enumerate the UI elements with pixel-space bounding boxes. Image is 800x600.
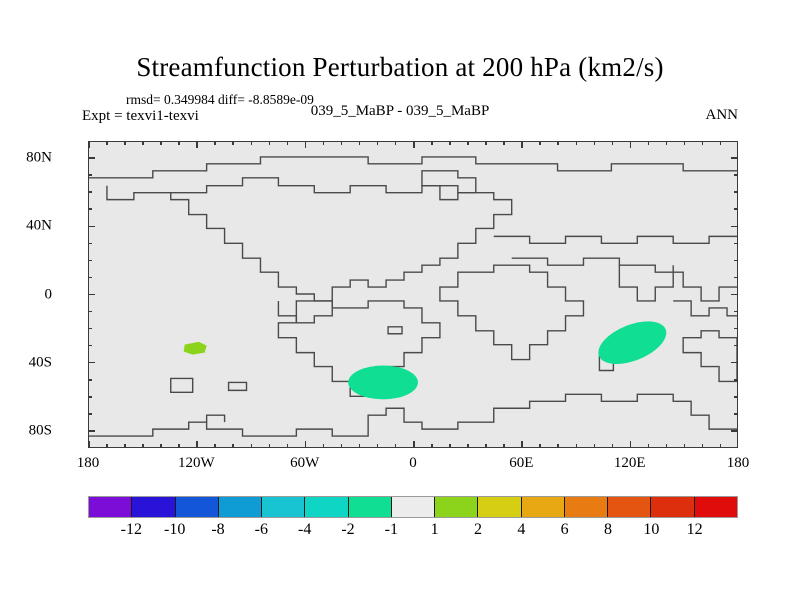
- x-tick-major: [305, 441, 307, 448]
- y-tick-major-right: [731, 226, 738, 228]
- colorbar-tick-label-11: 8: [604, 521, 612, 539]
- x-axis-label-6: 180: [727, 455, 750, 472]
- y-tick-minor: [88, 379, 92, 381]
- x-tick-minor: [431, 444, 433, 448]
- y-tick-minor: [88, 174, 92, 176]
- y-tick-major: [88, 226, 95, 228]
- colorbar[interactable]: [88, 496, 738, 518]
- x-tick-minor: [124, 444, 126, 448]
- colorbar-segment-2[interactable]: [176, 497, 219, 517]
- y-tick-minor-right: [734, 413, 738, 415]
- x-tick-minor: [323, 444, 325, 448]
- y-axis-label-1: 40N: [26, 218, 52, 235]
- y-tick-minor-right: [734, 311, 738, 313]
- x-tick-minor: [251, 444, 253, 448]
- colorbar-segment-1[interactable]: [132, 497, 175, 517]
- x-tick-minor-top: [720, 141, 722, 145]
- x-tick-minor-top: [359, 141, 361, 145]
- x-tick-minor-top: [666, 141, 668, 145]
- x-tick-minor-top: [251, 141, 253, 145]
- x-tick-minor-top: [485, 141, 487, 145]
- x-tick-minor-top: [160, 141, 162, 145]
- x-axis-label-0: 180: [77, 455, 100, 472]
- colorbar-tick-label-6: -1: [385, 521, 398, 539]
- colorbar-segment-7[interactable]: [392, 497, 435, 517]
- x-tick-minor-top: [106, 141, 108, 145]
- x-tick-minor-top: [612, 141, 614, 145]
- y-tick-minor: [88, 260, 92, 262]
- x-tick-major: [196, 441, 198, 448]
- x-tick-minor: [160, 444, 162, 448]
- colorbar-segment-14[interactable]: [695, 497, 737, 517]
- x-axis-label-2: 60W: [290, 455, 319, 472]
- colorbar-tick-label-5: -2: [341, 521, 354, 539]
- x-tick-major-top: [521, 141, 523, 148]
- x-tick-minor-top: [576, 141, 578, 145]
- y-tick-minor-right: [734, 345, 738, 347]
- y-tick-minor-right: [734, 243, 738, 245]
- x-tick-major-top: [88, 141, 90, 148]
- colorbar-segment-4[interactable]: [262, 497, 305, 517]
- y-tick-minor: [88, 311, 92, 313]
- x-tick-minor-top: [449, 141, 451, 145]
- x-tick-major-top: [630, 141, 632, 148]
- x-tick-major-top: [737, 141, 739, 148]
- colorbar-segment-0[interactable]: [89, 497, 132, 517]
- colorbar-segment-13[interactable]: [651, 497, 694, 517]
- y-tick-minor: [88, 345, 92, 347]
- colorbar-segment-9[interactable]: [478, 497, 521, 517]
- x-tick-minor: [612, 444, 614, 448]
- colorbar-tick-label-12: 10: [643, 521, 659, 539]
- x-tick-minor: [341, 444, 343, 448]
- x-tick-minor-top: [467, 141, 469, 145]
- y-tick-major: [88, 157, 95, 159]
- x-tick-minor: [576, 444, 578, 448]
- x-tick-minor: [666, 444, 668, 448]
- anomaly-contours-layer: [184, 313, 673, 400]
- x-tick-minor-top: [232, 141, 234, 145]
- x-tick-minor: [106, 444, 108, 448]
- x-tick-minor: [557, 444, 559, 448]
- x-tick-minor: [287, 444, 289, 448]
- x-tick-minor-top: [503, 141, 505, 145]
- x-tick-minor-top: [323, 141, 325, 145]
- x-tick-major: [630, 441, 632, 448]
- colorbar-segment-5[interactable]: [305, 497, 348, 517]
- y-tick-major-right: [731, 157, 738, 159]
- anomaly-south-atlantic: [348, 366, 418, 400]
- x-tick-minor-top: [142, 141, 144, 145]
- x-axis-label-1: 120W: [178, 455, 215, 472]
- x-tick-minor-top: [539, 141, 541, 145]
- x-tick-major: [88, 441, 90, 448]
- y-tick-minor-right: [734, 260, 738, 262]
- x-tick-minor-top: [594, 141, 596, 145]
- y-tick-minor-right: [734, 174, 738, 176]
- y-tick-minor-right: [734, 379, 738, 381]
- y-tick-major: [88, 362, 95, 364]
- colorbar-tick-label-4: -4: [298, 521, 311, 539]
- x-tick-minor: [684, 444, 686, 448]
- y-axis-label-2: 0: [45, 286, 53, 303]
- x-tick-minor-top: [395, 141, 397, 145]
- colorbar-segment-8[interactable]: [435, 497, 478, 517]
- x-axis-label-3: 0: [409, 455, 417, 472]
- colorbar-segment-12[interactable]: [608, 497, 651, 517]
- colorbar-segment-6[interactable]: [349, 497, 392, 517]
- y-tick-major: [88, 294, 95, 296]
- y-tick-minor: [88, 243, 92, 245]
- x-tick-minor: [720, 444, 722, 448]
- colorbar-tick-label-10: 6: [561, 521, 569, 539]
- x-tick-minor: [214, 444, 216, 448]
- colorbar-segment-3[interactable]: [219, 497, 262, 517]
- colorbar-segment-11[interactable]: [565, 497, 608, 517]
- x-tick-minor-top: [557, 141, 559, 145]
- x-tick-minor: [449, 444, 451, 448]
- x-tick-minor-top: [178, 141, 180, 145]
- colorbar-tick-label-9: 4: [517, 521, 525, 539]
- x-tick-minor-top: [214, 141, 216, 145]
- colorbar-tick-label-13: 12: [687, 521, 703, 539]
- y-axis-label-4: 80S: [29, 422, 52, 439]
- y-tick-minor: [88, 328, 92, 330]
- y-tick-minor-right: [734, 328, 738, 330]
- case-name-label: 039_5_MaBP - 039_5_MaBP: [0, 103, 800, 120]
- x-tick-minor: [395, 444, 397, 448]
- x-tick-minor: [377, 444, 379, 448]
- x-tick-minor-top: [341, 141, 343, 145]
- y-tick-minor: [88, 208, 92, 210]
- x-tick-minor: [142, 444, 144, 448]
- x-tick-major-top: [305, 141, 307, 148]
- coastlines-layer: [89, 157, 737, 436]
- colorbar-segments[interactable]: [88, 496, 738, 518]
- y-tick-minor-right: [734, 208, 738, 210]
- y-tick-major-right: [731, 430, 738, 432]
- x-tick-major: [737, 441, 739, 448]
- y-tick-major-right: [731, 294, 738, 296]
- x-tick-minor-top: [702, 141, 704, 145]
- x-tick-minor: [594, 444, 596, 448]
- x-tick-minor: [232, 444, 234, 448]
- map-plot-area: [88, 141, 738, 448]
- season-label: ANN: [706, 107, 739, 124]
- x-tick-minor: [503, 444, 505, 448]
- plot-page: Streamfunction Perturbation at 200 hPa (…: [0, 0, 800, 600]
- x-tick-major-top: [413, 141, 415, 148]
- y-axis-label-3: 40S: [29, 354, 52, 371]
- y-tick-major-right: [731, 362, 738, 364]
- colorbar-tick-label-0: -12: [121, 521, 142, 539]
- x-tick-major-top: [196, 141, 198, 148]
- x-axis-label-4: 60E: [509, 455, 533, 472]
- anomaly-northwest-australia: [592, 313, 672, 373]
- y-tick-minor: [88, 396, 92, 398]
- y-tick-major: [88, 430, 95, 432]
- x-tick-minor: [178, 444, 180, 448]
- y-tick-minor-right: [734, 277, 738, 279]
- x-tick-minor-top: [648, 141, 650, 145]
- x-tick-minor-top: [124, 141, 126, 145]
- y-tick-minor-right: [734, 191, 738, 193]
- colorbar-tick-label-7: 1: [431, 521, 439, 539]
- map-canvas: [89, 142, 737, 447]
- x-tick-minor-top: [431, 141, 433, 145]
- x-tick-minor: [702, 444, 704, 448]
- y-tick-minor: [88, 413, 92, 415]
- x-tick-minor: [269, 444, 271, 448]
- x-tick-major: [413, 441, 415, 448]
- y-axis-label-0: 80N: [26, 150, 52, 167]
- x-tick-minor-top: [377, 141, 379, 145]
- x-axis-label-5: 120E: [614, 455, 646, 472]
- colorbar-tick-label-8: 2: [474, 521, 482, 539]
- x-tick-minor: [648, 444, 650, 448]
- x-tick-minor-top: [287, 141, 289, 145]
- anomaly-south-pacific: [184, 342, 207, 355]
- x-tick-minor-top: [684, 141, 686, 145]
- x-tick-minor: [467, 444, 469, 448]
- y-tick-minor: [88, 277, 92, 279]
- x-tick-minor: [539, 444, 541, 448]
- x-tick-minor: [359, 444, 361, 448]
- x-tick-major: [521, 441, 523, 448]
- colorbar-tick-label-1: -10: [164, 521, 185, 539]
- page-title: Streamfunction Perturbation at 200 hPa (…: [0, 52, 800, 83]
- colorbar-tick-label-3: -6: [255, 521, 268, 539]
- y-tick-minor: [88, 191, 92, 193]
- colorbar-segment-10[interactable]: [522, 497, 565, 517]
- x-tick-minor-top: [269, 141, 271, 145]
- x-tick-minor: [485, 444, 487, 448]
- colorbar-tick-label-2: -8: [211, 521, 224, 539]
- y-tick-minor-right: [734, 396, 738, 398]
